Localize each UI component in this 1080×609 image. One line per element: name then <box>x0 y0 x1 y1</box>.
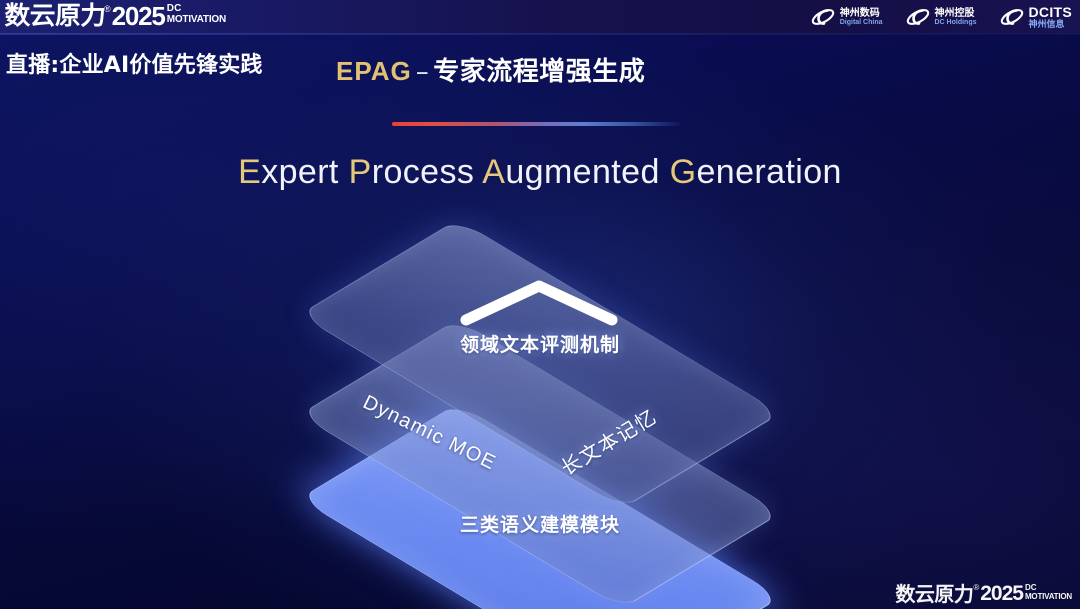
layer-label-top: 领域文本评测机制 <box>286 330 794 357</box>
layer-stack-diagram: 领域文本评测机制 Dynamic MOE 长文本记忆 三类语义建模模块 <box>286 222 794 590</box>
expanded-rest: rocess <box>372 153 475 191</box>
brand-lockup: 数云原力 ® 2025 DC MOTIVATION <box>6 2 226 32</box>
logo-name-en: DC Holdings <box>935 19 977 27</box>
brand-motivation-label: MOTIVATION <box>167 14 226 25</box>
swirl-logo-icon <box>810 6 836 28</box>
logo-name-cn: 神州数码 <box>840 8 883 19</box>
expanded-word-augmented: Augmented <box>482 153 660 191</box>
watermark-dc-motivation: DC MOTIVATION <box>1025 584 1072 601</box>
expanded-rest: ugmented <box>505 153 659 191</box>
brand-name-cn: 数云原力 <box>5 2 106 30</box>
expanded-cap: P <box>349 153 372 191</box>
slide-stage: 数云原力 ® 2025 DC MOTIVATION 神州数码 Digital C… <box>0 0 1080 609</box>
swirl-logo-icon <box>999 6 1025 28</box>
expanded-word-expert: Expert <box>238 153 339 191</box>
expanded-rest: xpert <box>261 153 339 191</box>
headline-dash: – <box>416 57 430 87</box>
brand-dc-label: DC <box>167 4 226 14</box>
logo-name-en: Digital China <box>840 19 883 27</box>
headline-subtitle-cn: 专家流程增强生成 <box>433 57 645 87</box>
logo-name-cn: 神州控股 <box>935 8 977 19</box>
logo-digital-china: 神州数码 Digital China <box>810 6 883 28</box>
expanded-title: Expert Process Augmented Generation <box>0 150 1080 194</box>
logo-text-dcits: DCITS 神州信息 <box>1029 5 1073 30</box>
swirl-logo-icon <box>905 6 931 28</box>
expanded-word-generation: Generation <box>670 153 842 191</box>
logo-text-digital-china: 神州数码 Digital China <box>840 8 883 27</box>
layer-label-bottom: 三类语义建模模块 <box>286 510 794 537</box>
slide-headline: EPAG–专家流程增强生成 <box>336 54 645 89</box>
expanded-word-process: Process <box>349 153 475 191</box>
live-session-title: 直播:企业AI价值先锋实践 <box>6 52 263 80</box>
brand-watermark: 数云原力 ® 2025 DC MOTIVATION <box>895 583 1072 605</box>
watermark-motivation-label: MOTIVATION <box>1025 592 1072 601</box>
expanded-rest: eneration <box>696 153 841 191</box>
watermark-registered-icon: ® <box>973 583 979 593</box>
logo-dc-holdings: 神州控股 DC Holdings <box>905 6 977 28</box>
watermark-name-cn: 数云原力 <box>895 583 973 605</box>
logo-name-en: 神州信息 <box>1029 20 1073 30</box>
partner-logos: 神州数码 Digital China 神州控股 DC Holdings DCIT… <box>810 3 1072 31</box>
brand-dc-motivation: DC MOTIVATION <box>167 4 226 25</box>
gradient-divider <box>392 122 680 126</box>
headline-acronym: EPAG <box>336 56 412 86</box>
logo-dcits: DCITS 神州信息 <box>999 5 1073 30</box>
logo-name-cn: DCITS <box>1029 5 1073 20</box>
logo-text-dc-holdings: 神州控股 DC Holdings <box>935 8 977 27</box>
expanded-cap: A <box>482 153 505 191</box>
brand-year: 2025 <box>112 2 165 30</box>
watermark-dc-label: DC <box>1025 584 1072 592</box>
expanded-cap: G <box>670 153 697 191</box>
watermark-year: 2025 <box>980 583 1023 605</box>
expanded-cap: E <box>238 153 261 191</box>
